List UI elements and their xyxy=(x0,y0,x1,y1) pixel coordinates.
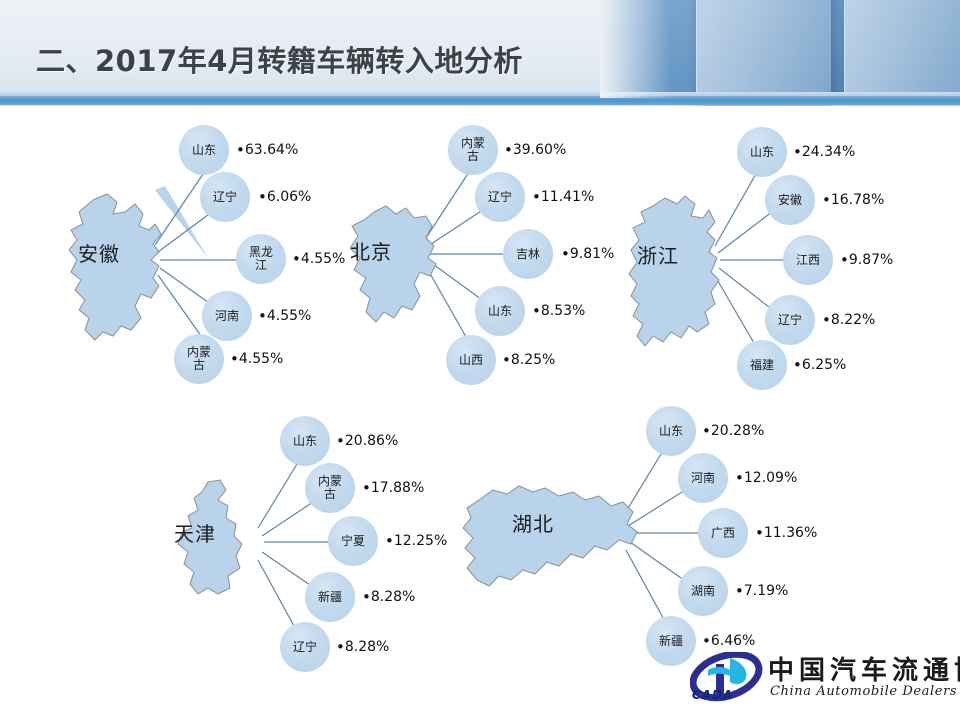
value-tianjin-4: •8.28% xyxy=(336,638,389,656)
bullet-icon: • xyxy=(755,524,764,542)
value-beijing-3: •8.53% xyxy=(532,302,585,320)
value-anhui-4: •4.55% xyxy=(230,350,283,368)
bullet-icon: • xyxy=(230,350,239,368)
bullet-icon: • xyxy=(362,588,371,606)
value-tianjin-3: •8.28% xyxy=(362,588,415,606)
node-label: 山东 xyxy=(293,435,317,448)
map-label-tianjin: 天津 xyxy=(174,518,216,547)
value-anhui-0: •63.64% xyxy=(236,141,298,159)
node-label: 内蒙 古 xyxy=(187,346,211,372)
value-zhejiang-3: •8.22% xyxy=(822,311,875,329)
node-zhejiang-1[interactable]: 安徽 xyxy=(765,175,815,225)
node-label: 山西 xyxy=(459,354,483,367)
node-zhejiang-4[interactable]: 福建 xyxy=(737,340,787,390)
bullet-icon: • xyxy=(336,432,345,450)
node-tianjin-4[interactable]: 辽宁 xyxy=(280,622,330,672)
bullet-icon: • xyxy=(561,245,570,263)
node-label: 广西 xyxy=(711,527,735,540)
diagram-group-tianjin: 天津 山东 •20.86% 内蒙 古 •17.88% 宁夏 •12.25% 新疆… xyxy=(150,400,470,680)
bullet-icon: • xyxy=(292,250,301,268)
node-label: 吉林 xyxy=(516,248,540,261)
node-label: 辽宁 xyxy=(488,191,512,204)
header-divider-accent xyxy=(0,96,960,105)
bullet-icon: • xyxy=(532,302,541,320)
bullet-icon: • xyxy=(336,638,345,656)
value-zhejiang-1: •16.78% xyxy=(822,191,884,209)
node-tianjin-3[interactable]: 新疆 xyxy=(305,572,355,622)
node-beijing-4[interactable]: 山西 xyxy=(446,335,496,385)
cube-icon-1 xyxy=(696,0,830,100)
cada-logo-chinese: 中国汽车流通协会 xyxy=(768,650,960,687)
map-shape-hubei xyxy=(455,476,655,601)
value-tianjin-0: •20.86% xyxy=(336,432,398,450)
node-label: 新疆 xyxy=(659,635,683,648)
node-anhui-4[interactable]: 内蒙 古 xyxy=(174,334,224,384)
node-tianjin-1[interactable]: 内蒙 古 xyxy=(305,463,355,513)
value-beijing-0: •39.60% xyxy=(504,141,566,159)
value-beijing-4: •8.25% xyxy=(502,351,555,369)
value-anhui-2: •4.55% xyxy=(292,250,345,268)
value-hubei-2: •11.36% xyxy=(755,524,817,542)
node-zhejiang-0[interactable]: 山东 xyxy=(737,127,787,177)
value-hubei-3: •7.19% xyxy=(735,582,788,600)
value-zhejiang-0: •24.34% xyxy=(793,143,855,161)
map-label-anhui: 安徽 xyxy=(78,238,120,267)
node-label: 河南 xyxy=(691,472,715,485)
bullet-icon: • xyxy=(258,307,267,325)
bullet-icon: • xyxy=(702,422,711,440)
node-beijing-1[interactable]: 辽宁 xyxy=(475,172,525,222)
node-zhejiang-2[interactable]: 江西 xyxy=(783,235,833,285)
diagram-group-anhui: 安徽 山东 •63.64% 辽宁 •6.06% 黑龙 江 •4.55% 河南 •… xyxy=(60,110,360,390)
node-label: 山东 xyxy=(488,305,512,318)
bullet-icon: • xyxy=(385,532,394,550)
bullet-icon: • xyxy=(502,351,511,369)
map-label-beijing: 北京 xyxy=(350,236,392,265)
node-label: 内蒙 古 xyxy=(318,475,342,501)
node-label: 江西 xyxy=(796,254,820,267)
slide-header: 二、2017年4月转籍车辆转入地分析 xyxy=(0,0,960,106)
value-tianjin-2: •12.25% xyxy=(385,532,447,550)
map-label-zhejiang: 浙江 xyxy=(637,240,679,269)
map-shape-zhejiang xyxy=(623,192,743,377)
bullet-icon: • xyxy=(793,143,802,161)
bullet-icon: • xyxy=(822,191,831,209)
node-label: 河南 xyxy=(215,310,239,323)
node-label: 安徽 xyxy=(778,194,802,207)
bullet-icon: • xyxy=(236,141,245,159)
slide-canvas: 二、2017年4月转籍车辆转入地分析 安徽 山东 •63.64% xyxy=(0,0,960,720)
map-shape-beijing xyxy=(340,200,460,350)
map-label-hubei: 湖北 xyxy=(512,508,554,537)
node-beijing-2[interactable]: 吉林 xyxy=(503,229,553,279)
node-beijing-3[interactable]: 山东 xyxy=(475,286,525,336)
node-hubei-4[interactable]: 新疆 xyxy=(646,616,696,666)
diagram-group-zhejiang: 浙江 山东 •24.34% 安徽 •16.78% 江西 •9.87% 辽宁 •8… xyxy=(625,110,955,400)
value-hubei-0: •20.28% xyxy=(702,422,764,440)
cada-abbr-text: CADA xyxy=(692,688,733,702)
node-tianjin-0[interactable]: 山东 xyxy=(280,416,330,466)
value-beijing-1: •11.41% xyxy=(532,188,594,206)
bullet-icon: • xyxy=(258,188,267,206)
node-label: 山东 xyxy=(192,144,216,157)
node-label: 湖南 xyxy=(691,585,715,598)
node-anhui-1[interactable]: 辽宁 xyxy=(200,172,250,222)
bullet-icon: • xyxy=(793,356,802,374)
node-label: 辽宁 xyxy=(293,641,317,654)
node-anhui-2[interactable]: 黑龙 江 xyxy=(236,234,286,284)
cada-logo-english: China Automobile Dealers Association xyxy=(770,684,960,699)
bullet-icon: • xyxy=(822,311,831,329)
node-label: 辽宁 xyxy=(213,191,237,204)
bullet-icon: • xyxy=(735,582,744,600)
node-label: 辽宁 xyxy=(778,314,802,327)
diagram-group-hubei: 湖北 山东 •20.28% 河南 •12.09% 广西 •11.36% 湖南 •… xyxy=(450,390,850,680)
bullet-icon: • xyxy=(532,188,541,206)
node-hubei-3[interactable]: 湖南 xyxy=(678,566,728,616)
blue-cubes-globe-artwork xyxy=(600,0,960,98)
bullet-icon: • xyxy=(504,141,513,159)
value-tianjin-1: •17.88% xyxy=(362,479,424,497)
bullet-icon: • xyxy=(735,469,744,487)
value-beijing-2: •9.81% xyxy=(561,245,614,263)
node-tianjin-2[interactable]: 宁夏 xyxy=(328,516,378,566)
page-title: 二、2017年4月转籍车辆转入地分析 xyxy=(36,38,523,80)
bullet-icon: • xyxy=(362,479,371,497)
node-label: 黑龙 江 xyxy=(249,246,273,272)
value-anhui-3: •4.55% xyxy=(258,307,311,325)
value-zhejiang-2: •9.87% xyxy=(840,251,893,269)
node-label: 内蒙 古 xyxy=(461,137,485,163)
cada-logo: CADA 中国汽车流通协会 China Automobile Dealers A… xyxy=(690,648,952,710)
cube-icon-2 xyxy=(844,0,960,98)
node-label: 山东 xyxy=(750,146,774,159)
node-anhui-3[interactable]: 河南 xyxy=(202,291,252,341)
node-hubei-2[interactable]: 广西 xyxy=(698,508,748,558)
node-zhejiang-3[interactable]: 辽宁 xyxy=(765,295,815,345)
node-anhui-0[interactable]: 山东 xyxy=(179,125,229,175)
value-zhejiang-4: •6.25% xyxy=(793,356,846,374)
value-anhui-1: •6.06% xyxy=(258,188,311,206)
node-hubei-0[interactable]: 山东 xyxy=(646,406,696,456)
diagram-group-beijing: 北京 内蒙 古 •39.60% 辽宁 •11.41% 吉林 •9.81% 山东 … xyxy=(348,110,648,390)
node-label: 山东 xyxy=(659,425,683,438)
value-hubei-1: •12.09% xyxy=(735,469,797,487)
node-label: 宁夏 xyxy=(341,535,365,548)
node-label: 新疆 xyxy=(318,591,342,604)
node-label: 福建 xyxy=(750,359,774,372)
node-beijing-0[interactable]: 内蒙 古 xyxy=(448,125,498,175)
node-hubei-1[interactable]: 河南 xyxy=(678,453,728,503)
bullet-icon: • xyxy=(840,251,849,269)
